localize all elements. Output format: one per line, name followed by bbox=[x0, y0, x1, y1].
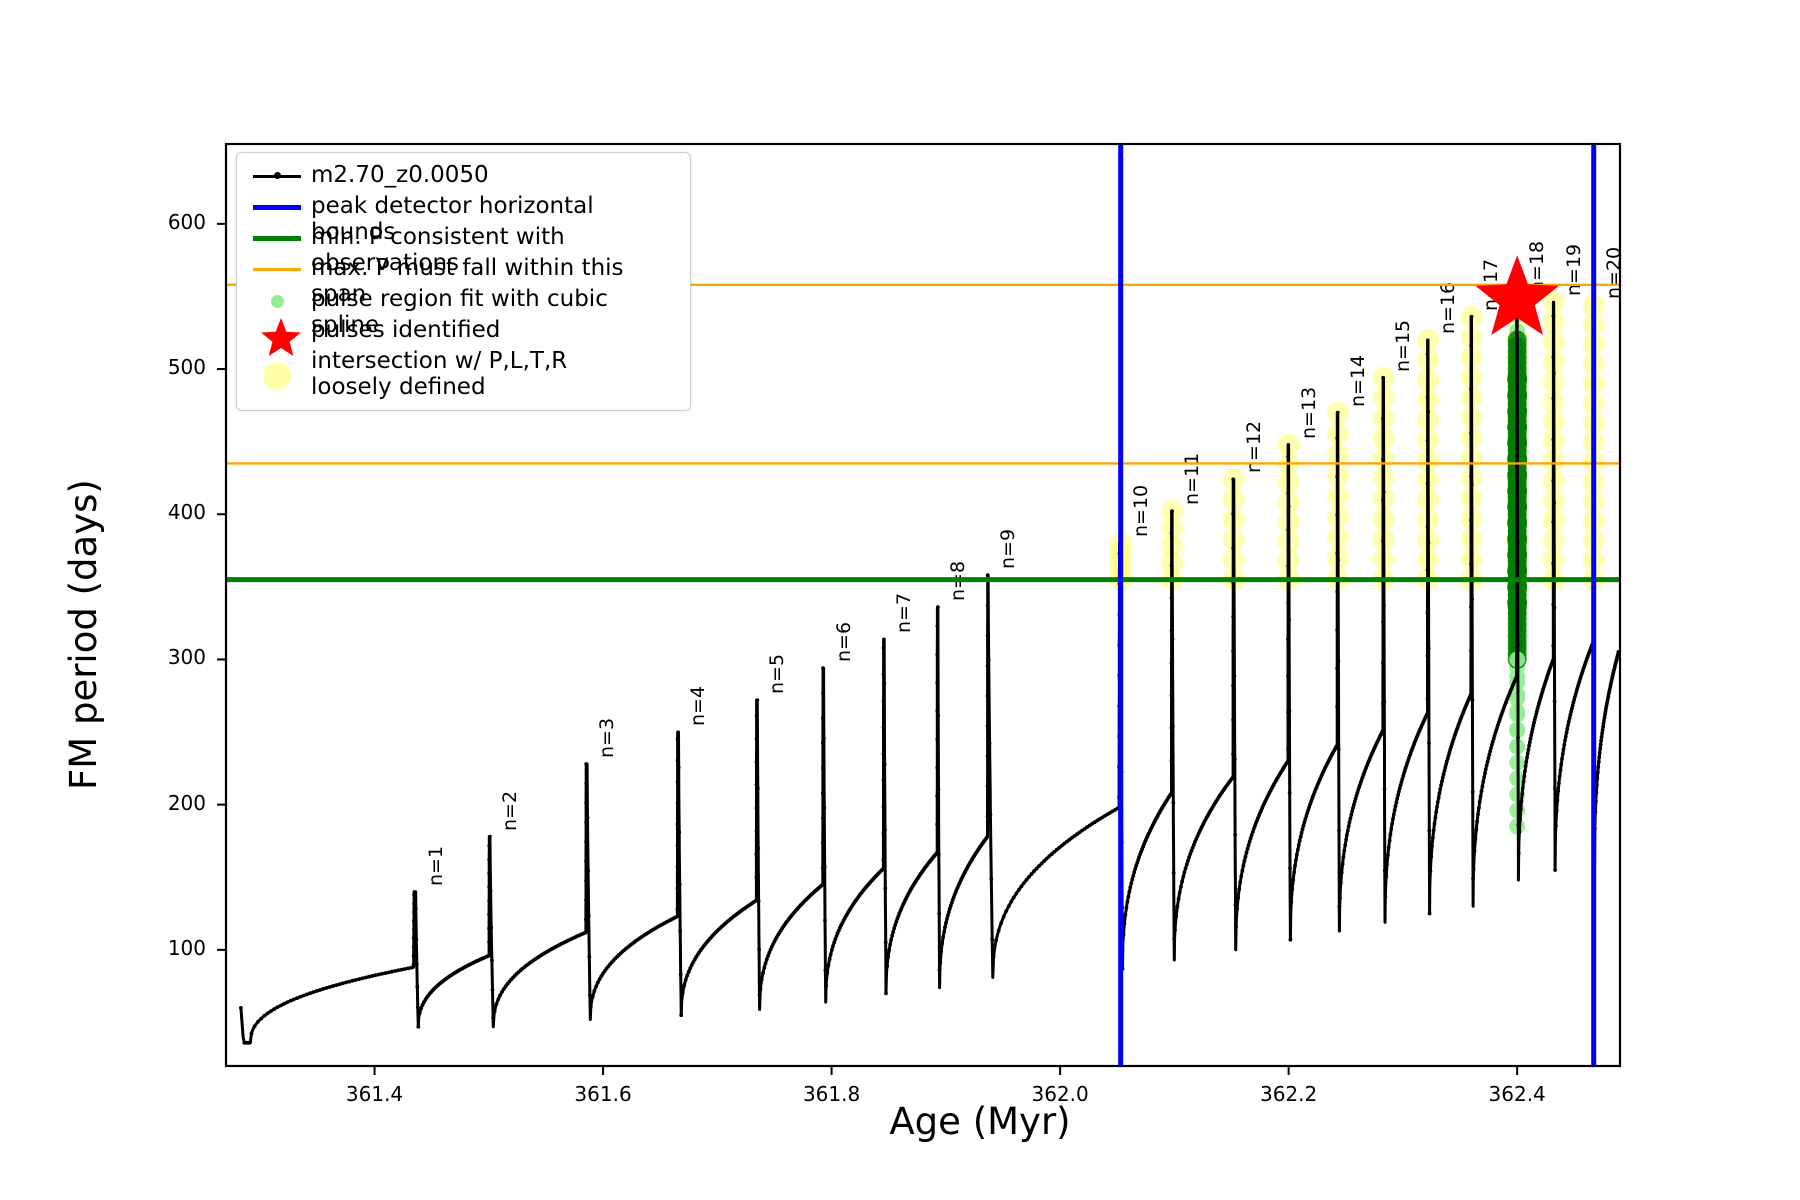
legend-label: intersection w/ P,L,T,R loosely defined bbox=[305, 348, 567, 400]
legend-entry: max. P must fall within this span bbox=[249, 255, 678, 286]
legend-small-dot-icon bbox=[249, 286, 305, 314]
figure-canvas: FM period (days) Age (Myr) 1002003004005… bbox=[0, 0, 1800, 1200]
legend-entry: min. P consistent with observations bbox=[249, 224, 678, 255]
legend-entry: pulse region fit with cubic spline bbox=[249, 286, 678, 317]
legend-thick-line-icon bbox=[249, 193, 305, 221]
legend-star-icon bbox=[249, 317, 305, 345]
legend-entry: m2.70_z0.0050 bbox=[249, 162, 678, 193]
legend-box: m2.70_z0.0050peak detector horizontal bo… bbox=[236, 152, 691, 411]
legend-thin-line-icon bbox=[249, 255, 305, 283]
legend-label: m2.70_z0.0050 bbox=[305, 162, 489, 188]
intersection-markers bbox=[1110, 288, 1605, 590]
legend-entry: intersection w/ P,L,T,R loosely defined bbox=[249, 348, 678, 400]
legend-large-dot-icon bbox=[249, 348, 305, 376]
legend-entry: peak detector horizontal bounds bbox=[249, 193, 678, 224]
legend-thick-line-icon bbox=[249, 224, 305, 252]
legend-line-marker-icon bbox=[249, 162, 305, 190]
legend-label: pulses identified bbox=[305, 317, 500, 343]
